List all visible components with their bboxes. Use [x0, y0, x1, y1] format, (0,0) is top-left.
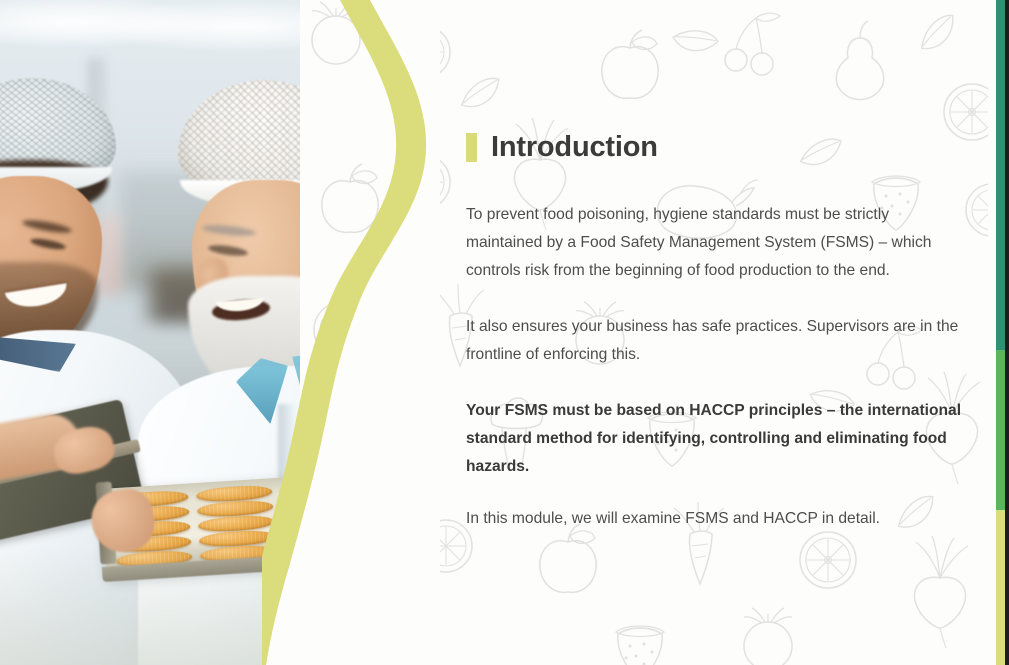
biscuit	[199, 529, 276, 548]
edge-bar-gutter	[988, 0, 996, 665]
content-panel: Introduction To prevent food poisoning, …	[300, 0, 996, 665]
text-content: Introduction To prevent food poisoning, …	[466, 0, 966, 665]
biscuit	[198, 514, 275, 533]
paragraph-module-outline: In this module, we will examine FSMS and…	[466, 505, 962, 533]
accent-square-icon	[466, 133, 477, 162]
biscuit	[197, 499, 274, 518]
heading-label: Introduction	[491, 131, 658, 164]
edge-segment-yellow	[996, 510, 1005, 665]
page-title: Introduction	[466, 131, 658, 164]
edge-color-bar	[996, 0, 1005, 665]
paragraph-haccp-emphasis: Your FSMS must be based on HACCP princip…	[466, 397, 962, 481]
edge-segment-green	[996, 350, 1005, 510]
edge-dark-strip	[1005, 0, 1009, 665]
paragraph-intro: To prevent food poisoning, hygiene stand…	[466, 201, 962, 285]
biscuit	[196, 484, 273, 503]
slide-canvas: Introduction To prevent food poisoning, …	[0, 0, 1009, 665]
edge-segment-teal	[996, 0, 1005, 350]
paragraph-supervisors: It also ensures your business has safe p…	[466, 313, 962, 369]
